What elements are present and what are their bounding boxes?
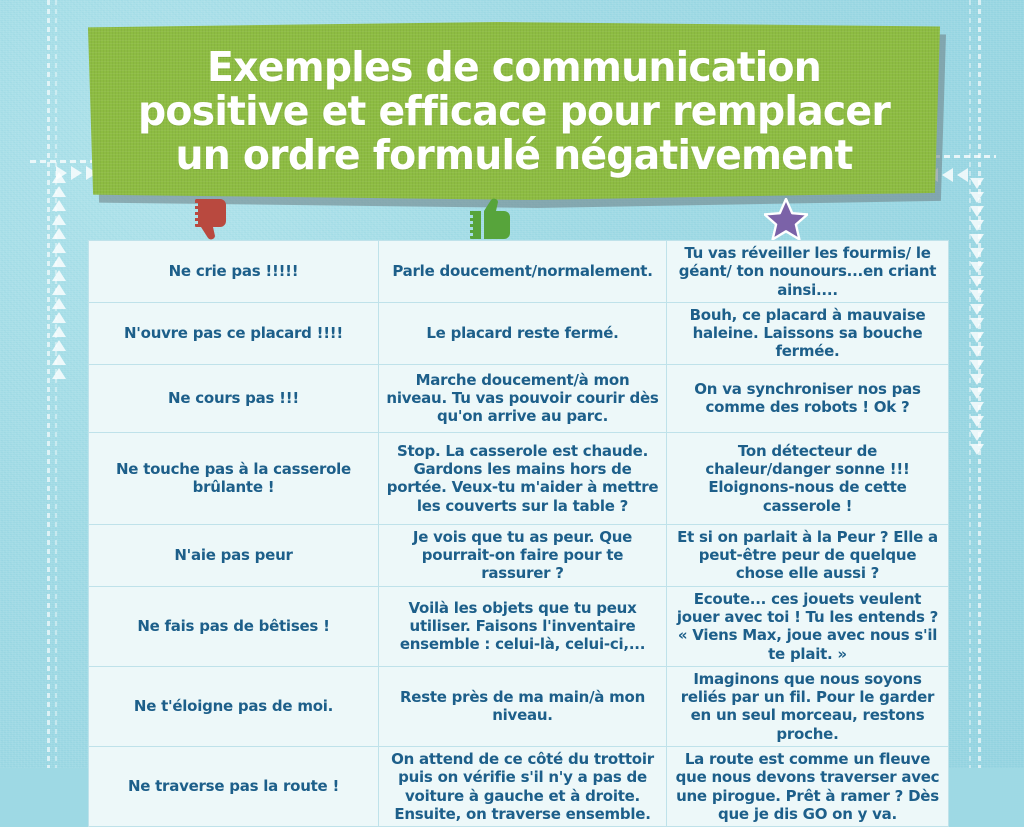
- cell-negative: Ne touche pas à la casserole brûlante !: [89, 432, 379, 524]
- decorative-triangle-column-left: [48, 172, 70, 379]
- star-icon-slot: [756, 196, 816, 242]
- cell-playful: Ecoute... ces jouets veulent jouer avec …: [667, 586, 949, 666]
- cell-negative: N'ouvre pas ce placard !!!!: [89, 302, 379, 364]
- cell-playful: Tu vas réveiller les fourmis/ le géant/ …: [667, 241, 949, 303]
- cell-playful: Imaginons que nous soyons reliés par un …: [667, 666, 949, 746]
- cell-negative: Ne traverse pas la route !: [89, 747, 379, 827]
- cell-positive: On attend de ce côté du trottoir puis on…: [379, 747, 667, 827]
- cell-playful: Ton détecteur de chaleur/danger sonne !!…: [667, 432, 949, 524]
- decorative-dashed-rule-left: [47, 0, 50, 768]
- table-row: Ne touche pas à la casserole brûlante ! …: [89, 432, 949, 524]
- cell-negative: Ne crie pas !!!!!: [89, 241, 379, 303]
- table-row: Ne traverse pas la route ! On attend de …: [89, 747, 949, 827]
- cell-negative: Ne fais pas de bêtises !: [89, 586, 379, 666]
- column-icon-row: [88, 196, 948, 242]
- cell-positive: Marche doucement/à mon niveau. Tu vas po…: [379, 364, 667, 432]
- decorative-dashed-rule-left-2: [55, 0, 57, 768]
- table-row: Ne t'éloigne pas de moi. Reste près de m…: [89, 666, 949, 746]
- cell-negative: Ne cours pas !!!: [89, 364, 379, 432]
- star-icon: [764, 198, 808, 240]
- table-row: Ne crie pas !!!!! Parle doucement/normal…: [89, 241, 949, 303]
- thumbs-up-icon: [468, 197, 512, 241]
- cell-positive: Reste près de ma main/à mon niveau.: [379, 666, 667, 746]
- table-row: N'ouvre pas ce placard !!!! Le placard r…: [89, 302, 949, 364]
- cell-negative: Ne t'éloigne pas de moi.: [89, 666, 379, 746]
- table-row: Ne fais pas de bêtises ! Voilà les objet…: [89, 586, 949, 666]
- cell-playful: Et si on parlait à la Peur ? Elle a peut…: [667, 524, 949, 586]
- thumbs-up-icon-slot: [460, 196, 520, 242]
- banner-surface: Exemples de communication positive et ef…: [88, 22, 940, 200]
- table-row: N'aie pas peur Je vois que tu as peur. Q…: [89, 524, 949, 586]
- cell-positive: Voilà les objets que tu peux utiliser. F…: [379, 586, 667, 666]
- cell-positive: Le placard reste fermé.: [379, 302, 667, 364]
- page-title: Exemples de communication positive et ef…: [105, 45, 923, 178]
- decorative-cross-rule-right: [934, 155, 996, 158]
- cell-playful: On va synchroniser nos pas comme des rob…: [667, 364, 949, 432]
- title-banner: Exemples de communication positive et ef…: [88, 22, 940, 200]
- cell-playful: La route est comme un fleuve que nous de…: [667, 747, 949, 827]
- cell-positive: Stop. La casserole est chaude. Gardons l…: [379, 432, 667, 524]
- cell-negative: N'aie pas peur: [89, 524, 379, 586]
- examples-table-wrapper: Ne crie pas !!!!! Parle doucement/normal…: [88, 240, 948, 768]
- cell-positive: Parle doucement/normalement.: [379, 241, 667, 303]
- decorative-cross-rule-left: [30, 160, 92, 163]
- thumbs-down-icon-slot: [184, 196, 244, 242]
- decorative-triangle-column-right: [966, 178, 988, 455]
- examples-table: Ne crie pas !!!!! Parle doucement/normal…: [88, 240, 949, 827]
- cell-playful: Bouh, ce placard à mauvaise haleine. Lai…: [667, 302, 949, 364]
- cell-positive: Je vois que tu as peur. Que pourrait-on …: [379, 524, 667, 586]
- thumbs-down-icon: [193, 197, 235, 241]
- table-row: Ne cours pas !!! Marche doucement/à mon …: [89, 364, 949, 432]
